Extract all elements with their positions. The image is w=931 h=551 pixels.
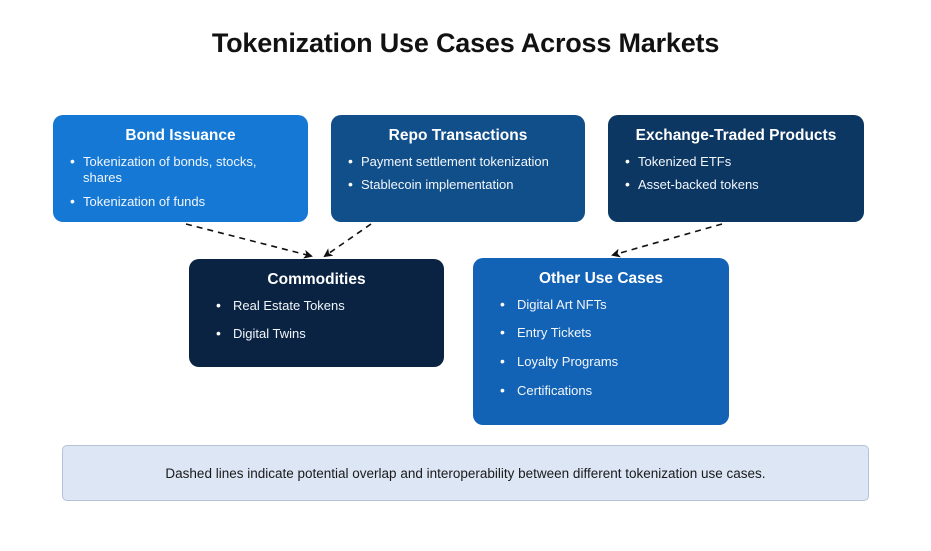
node-item-list: Payment settlement tokenization Stableco… <box>345 154 571 194</box>
list-item: Certifications <box>487 383 715 400</box>
diagram-canvas: Tokenization Use Cases Across Markets Bo… <box>0 0 931 551</box>
node-title: Bond Issuance <box>67 127 294 145</box>
node-title: Exchange-Traded Products <box>622 127 850 145</box>
node-repo-transactions[interactable]: Repo Transactions Payment settlement tok… <box>331 115 585 222</box>
node-title: Repo Transactions <box>345 127 571 145</box>
connector-bond-to-commodities <box>186 224 311 256</box>
footnote-text: Dashed lines indicate potential overlap … <box>165 466 765 481</box>
list-item: Entry Tickets <box>487 325 715 342</box>
node-commodities[interactable]: Commodities Real Estate Tokens Digital T… <box>189 259 444 367</box>
connector-etp-to-other <box>613 224 722 255</box>
node-other-use-cases[interactable]: Other Use Cases Digital Art NFTs Entry T… <box>473 258 729 425</box>
list-item: Tokenization of bonds, stocks, shares <box>67 154 294 187</box>
list-item: Loyalty Programs <box>487 354 715 371</box>
node-bond-issuance[interactable]: Bond Issuance Tokenization of bonds, sto… <box>53 115 308 222</box>
list-item: Stablecoin implementation <box>345 177 571 194</box>
node-item-list: Real Estate Tokens Digital Twins <box>203 298 430 343</box>
footnote-panel: Dashed lines indicate potential overlap … <box>62 445 869 501</box>
page-title: Tokenization Use Cases Across Markets <box>0 28 931 59</box>
list-item: Tokenization of funds <box>67 194 294 211</box>
node-item-list: Tokenization of bonds, stocks, shares To… <box>67 154 294 211</box>
node-exchange-traded-products[interactable]: Exchange-Traded Products Tokenized ETFs … <box>608 115 864 222</box>
connector-repo-to-commodities <box>325 224 371 256</box>
node-item-list: Digital Art NFTs Entry Tickets Loyalty P… <box>487 297 715 400</box>
node-title: Commodities <box>203 271 430 289</box>
list-item: Digital Art NFTs <box>487 297 715 314</box>
node-item-list: Tokenized ETFs Asset-backed tokens <box>622 154 850 194</box>
node-title: Other Use Cases <box>487 270 715 288</box>
list-item: Real Estate Tokens <box>203 298 430 315</box>
list-item: Digital Twins <box>203 326 430 343</box>
list-item: Payment settlement tokenization <box>345 154 571 171</box>
list-item: Tokenized ETFs <box>622 154 850 171</box>
list-item: Asset-backed tokens <box>622 177 850 194</box>
